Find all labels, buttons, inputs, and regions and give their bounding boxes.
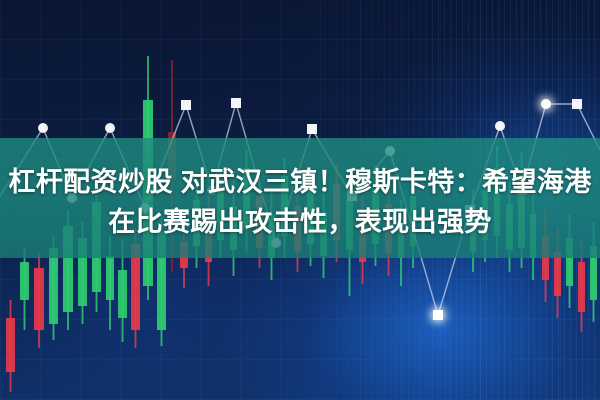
headline-line-1: 杠杆配资炒股 对武汉三镇！穆斯卡特：希望海港	[0, 162, 600, 202]
headline-line-2: 在比赛踢出攻击性，表现出强势	[0, 202, 600, 242]
headline: 杠杆配资炒股 对武汉三镇！穆斯卡特：希望海港 在比赛踢出攻击性，表现出强势	[0, 162, 600, 242]
news-banner: 杠杆配资炒股 对武汉三镇！穆斯卡特：希望海港 在比赛踢出攻击性，表现出强势	[0, 0, 600, 400]
